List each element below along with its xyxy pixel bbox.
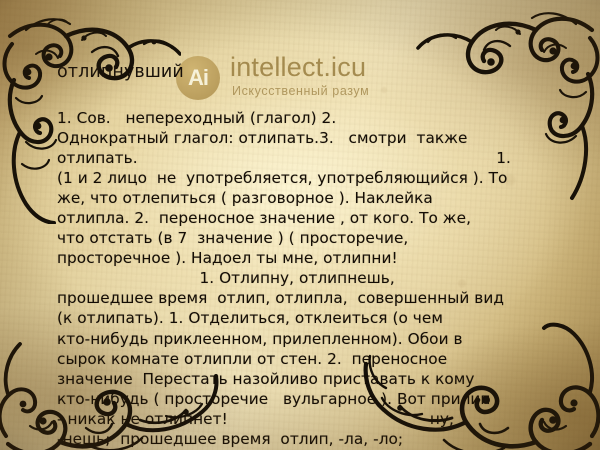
entry-definition-text: 1. Сов. непереходный (глагол) 2. Однокра… [57, 108, 549, 450]
parchment-page: Ai intellect.icu Искусственный разум отл… [0, 0, 600, 450]
entry-headword: отлипнувший [57, 64, 549, 82]
dictionary-entry: отлипнувший 1. Сов. непереходный (глагол… [57, 64, 549, 450]
